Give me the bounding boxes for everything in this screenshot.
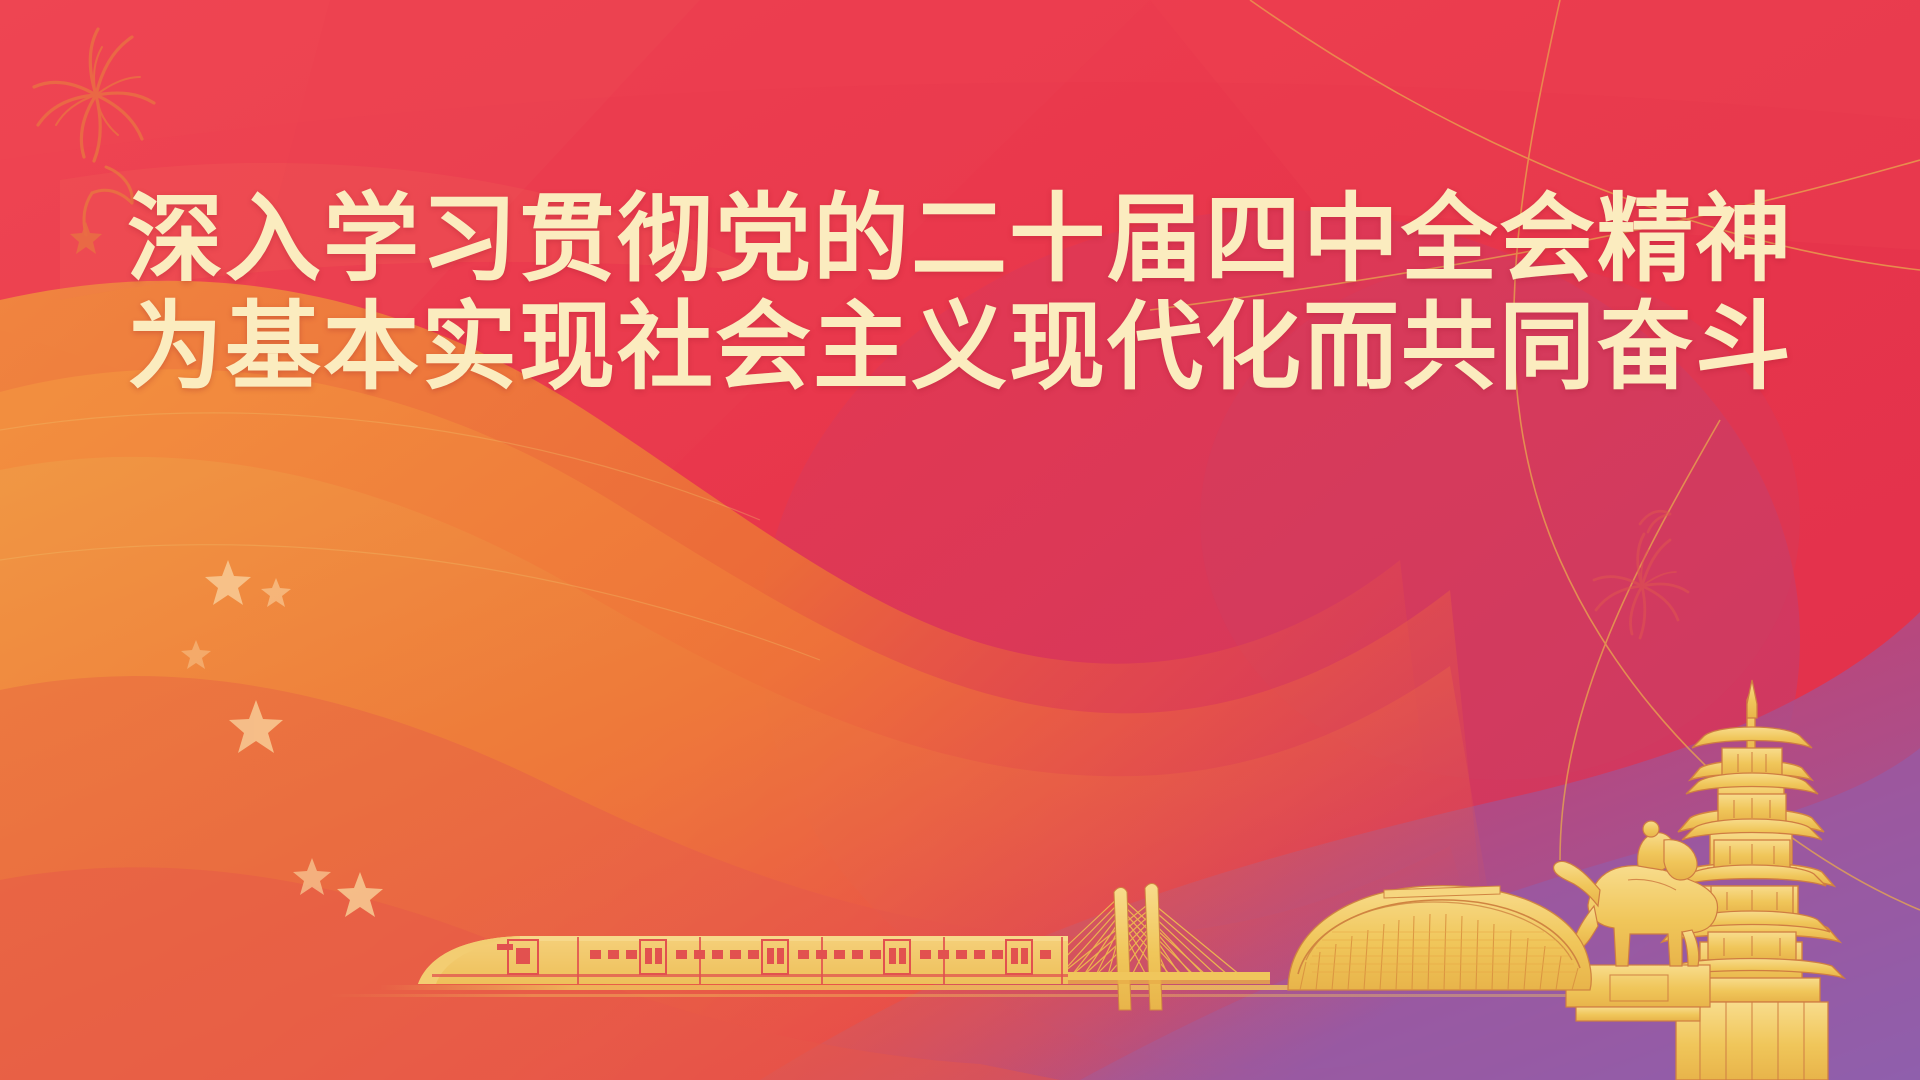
background-artwork <box>0 0 1920 1080</box>
high-speed-train <box>418 936 1068 984</box>
banner-poster: 深入学习贯彻党的二十届四中全会精神 为基本实现社会主义现代化而共同奋斗 <box>0 0 1920 1080</box>
